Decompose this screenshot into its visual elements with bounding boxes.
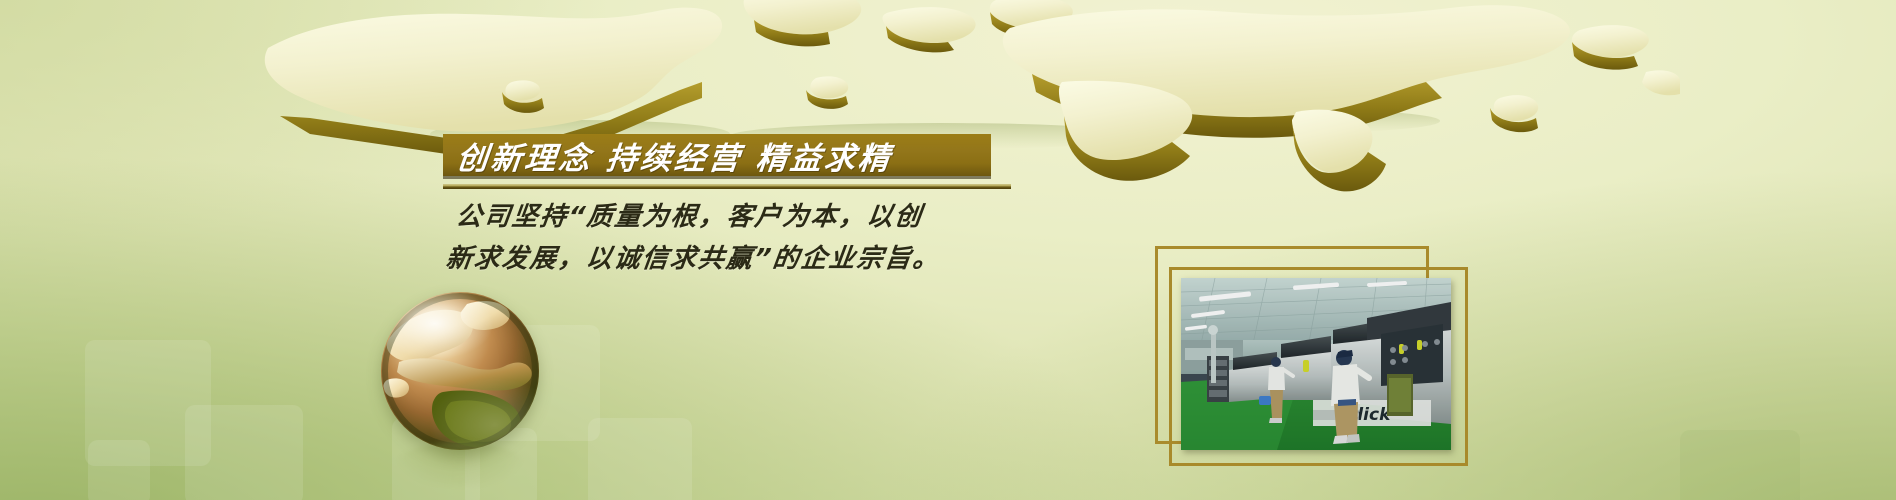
- motto-block: 公司坚持“质量为根，客户为本，以创 新求发展，以诚信求共赢”的企业宗旨。: [446, 196, 1136, 280]
- photo-frame-block: dick: [1155, 246, 1473, 486]
- factory-photo: dick: [1181, 278, 1451, 450]
- globe-reflection: [397, 442, 523, 486]
- globe-graphic: [381, 292, 553, 492]
- headline-text: 创新理念 持续经营 精益求精: [441, 133, 895, 178]
- globe-sphere: [381, 292, 539, 450]
- motto-line-2: 新求发展，以诚信求共赢”的企业宗旨。: [443, 238, 1138, 280]
- headline-underline-rule: [443, 184, 1011, 189]
- decor-square: [588, 418, 692, 500]
- decor-square: [88, 440, 150, 500]
- decor-square: [1680, 430, 1800, 500]
- headline-plaque: 创新理念 持续经营 精益求精: [443, 134, 991, 176]
- motto-line-1: 公司坚持“质量为根，客户为本，以创: [443, 196, 1138, 238]
- decor-square: [185, 405, 303, 500]
- hero-banner: 创新理念 持续经营 精益求精 公司坚持“质量为根，客户为本，以创 新求发展，以诚…: [0, 0, 1896, 500]
